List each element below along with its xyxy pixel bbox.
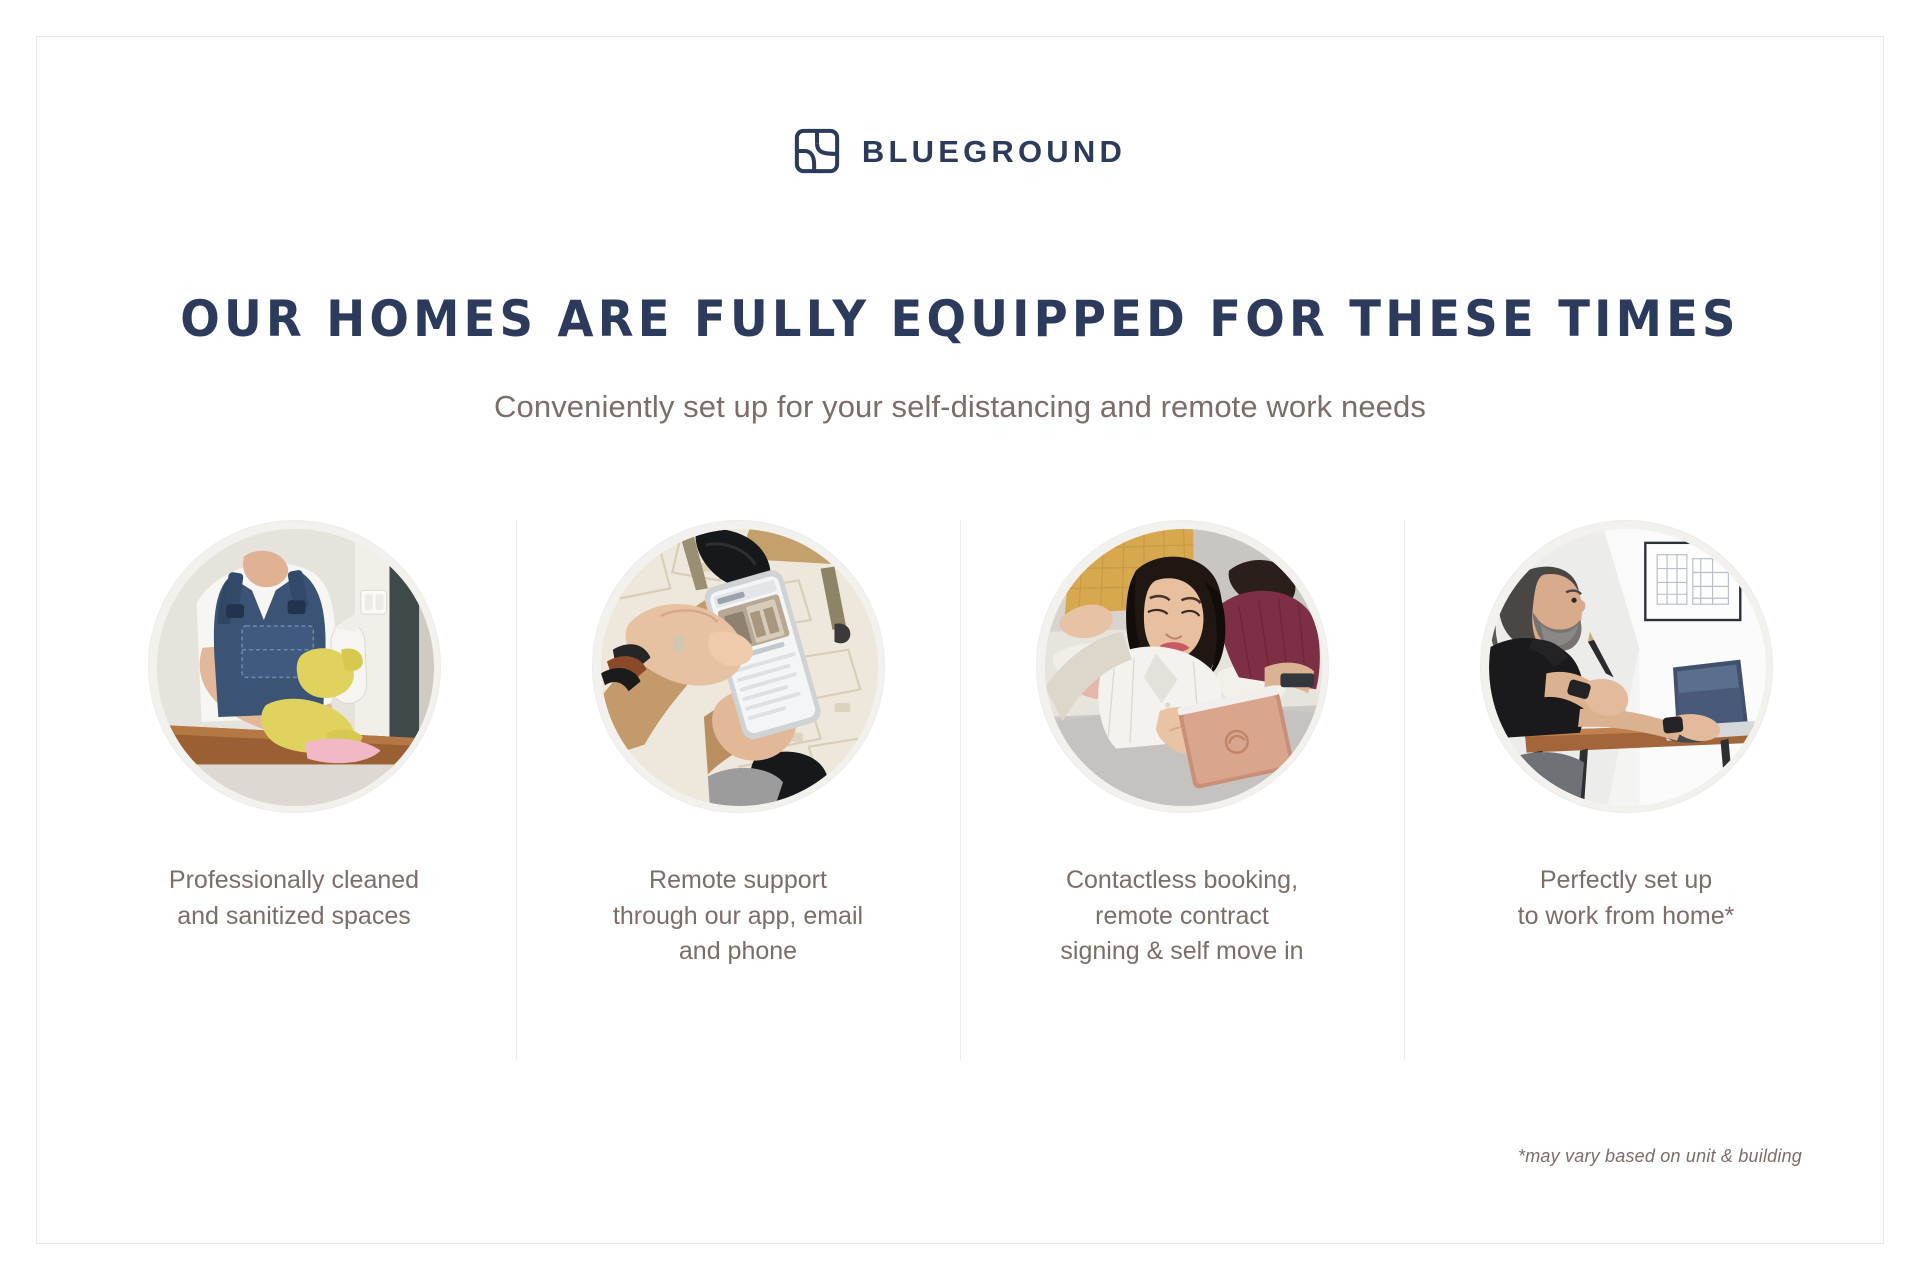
feature-column-cleaning: Professionally cleaned and sanitized spa… — [72, 520, 516, 1060]
feature-caption: Contactless booking, remote contract sig… — [1060, 863, 1303, 970]
page-subtitle: Conveniently set up for your self-distan… — [0, 387, 1920, 427]
work-from-home-photo — [1480, 520, 1773, 813]
feature-column-remote-support: Remote support through our app, email an… — [516, 520, 960, 1060]
feature-caption: Professionally cleaned and sanitized spa… — [169, 863, 419, 934]
contactless-booking-photo — [1036, 520, 1329, 813]
mobile-app-support-photo — [592, 520, 885, 813]
feature-columns: Professionally cleaned and sanitized spa… — [72, 520, 1848, 1060]
feature-column-contactless-booking: Contactless booking, remote contract sig… — [960, 520, 1404, 1060]
feature-caption: Remote support through our app, email an… — [613, 863, 863, 970]
footnote-disclaimer: *may vary based on unit & building — [1518, 1146, 1802, 1167]
feature-column-work-from-home: Perfectly set up to work from home* — [1404, 520, 1848, 1060]
blueground-square-mark-icon — [794, 128, 840, 174]
brand-wordmark: BLUEGROUND — [862, 136, 1126, 167]
feature-caption: Perfectly set up to work from home* — [1518, 863, 1735, 934]
page-title: OUR HOMES ARE FULLY EQUIPPED FOR THESE T… — [67, 292, 1853, 347]
brand-logo: BLUEGROUND — [0, 128, 1920, 174]
marketing-infographic-page: BLUEGROUND OUR HOMES ARE FULLY EQUIPPED … — [0, 0, 1920, 1280]
cleaning-staff-photo — [148, 520, 441, 813]
